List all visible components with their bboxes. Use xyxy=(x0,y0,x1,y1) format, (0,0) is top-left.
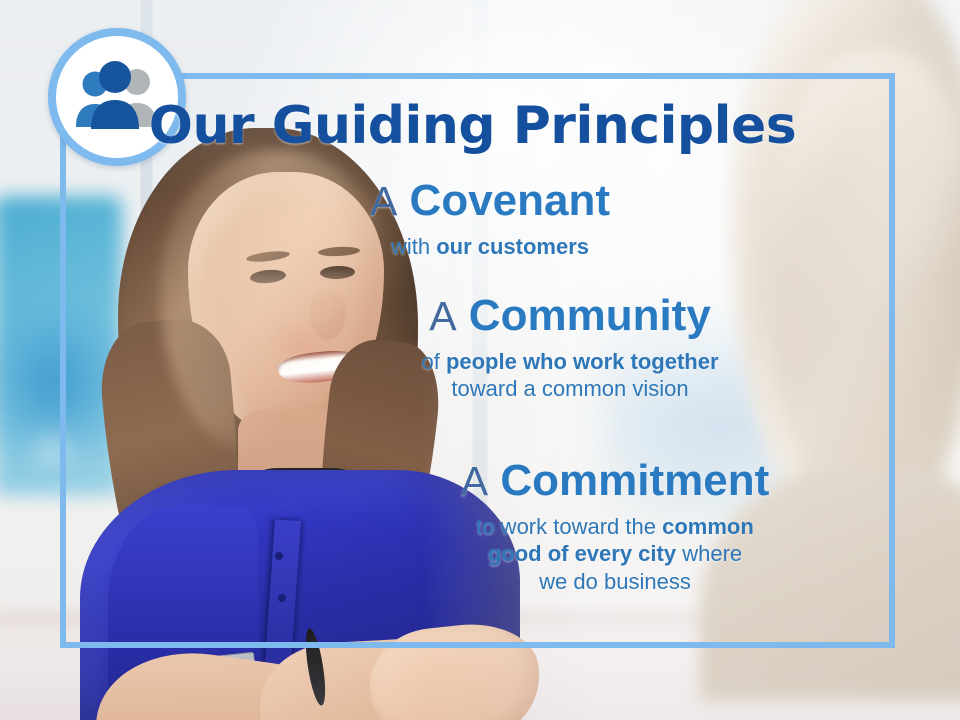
page-title: Our Guiding Principles xyxy=(60,96,885,156)
principle-keyword: Covenant xyxy=(410,176,610,225)
principle-article: A xyxy=(370,178,397,224)
subtext-plain-2: where xyxy=(676,541,742,566)
principle-community-subtext: of people who work together toward a com… xyxy=(290,348,850,403)
subtext-line-1: of people who work together xyxy=(290,348,850,376)
subtext-line-1: to work toward the common xyxy=(350,513,880,541)
subtext-bold-2: good of every city xyxy=(488,541,676,566)
subtext-plain: with xyxy=(391,234,436,259)
principle-community-heading: A Community xyxy=(290,293,850,340)
subtext-bold: our customers xyxy=(436,234,589,259)
principle-covenant: A Covenant with our customers xyxy=(230,178,750,260)
subtext-plain: to work toward the xyxy=(476,514,662,539)
principle-community: A Community of people who work together … xyxy=(290,293,850,403)
principle-covenant-heading: A Covenant xyxy=(230,178,750,225)
poster-canvas: FLOW FLOW AUTOMOTIVE Our Guiding Princip… xyxy=(0,0,960,720)
principle-commitment-heading: A Commitment xyxy=(350,458,880,505)
text-content: Our Guiding Principles A Covenant with o… xyxy=(60,73,895,648)
subtext-line-2: toward a common vision xyxy=(290,375,850,403)
subtext-bold: common xyxy=(662,514,754,539)
principle-article: A xyxy=(429,293,456,339)
subtext-plain: of xyxy=(421,349,445,374)
subtext-line-2: good of every city where xyxy=(350,540,880,568)
subtext-bold: people who work together xyxy=(446,349,719,374)
principle-commitment-subtext: to work toward the common good of every … xyxy=(350,513,880,596)
principle-covenant-subtext: with our customers xyxy=(230,233,750,261)
subtext-line-3: we do business xyxy=(350,568,880,596)
principle-keyword: Commitment xyxy=(500,456,769,505)
principle-keyword: Community xyxy=(469,291,711,340)
principle-article: A xyxy=(461,458,488,504)
principle-commitment: A Commitment to work toward the common g… xyxy=(350,458,880,596)
